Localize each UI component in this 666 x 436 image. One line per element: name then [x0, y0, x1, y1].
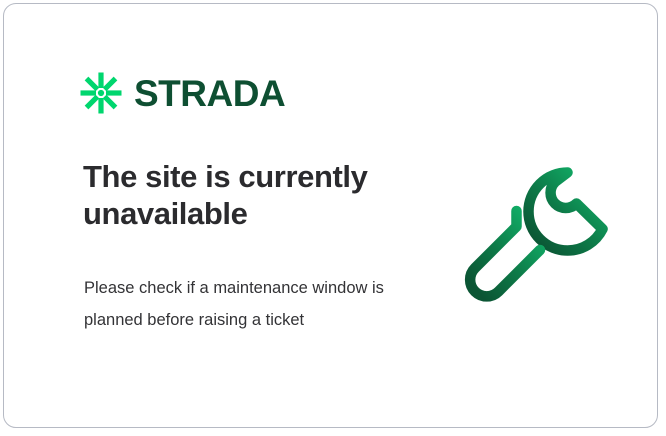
- brand-lockup: STRADA: [80, 72, 285, 114]
- status-card: STRADA The site is currently unavailable…: [3, 3, 658, 428]
- page-title: The site is currently unavailable: [83, 159, 413, 232]
- brand-wordmark: STRADA: [134, 75, 285, 112]
- strada-asterisk-icon: [80, 72, 122, 114]
- page-description: Please check if a maintenance window is …: [84, 272, 394, 336]
